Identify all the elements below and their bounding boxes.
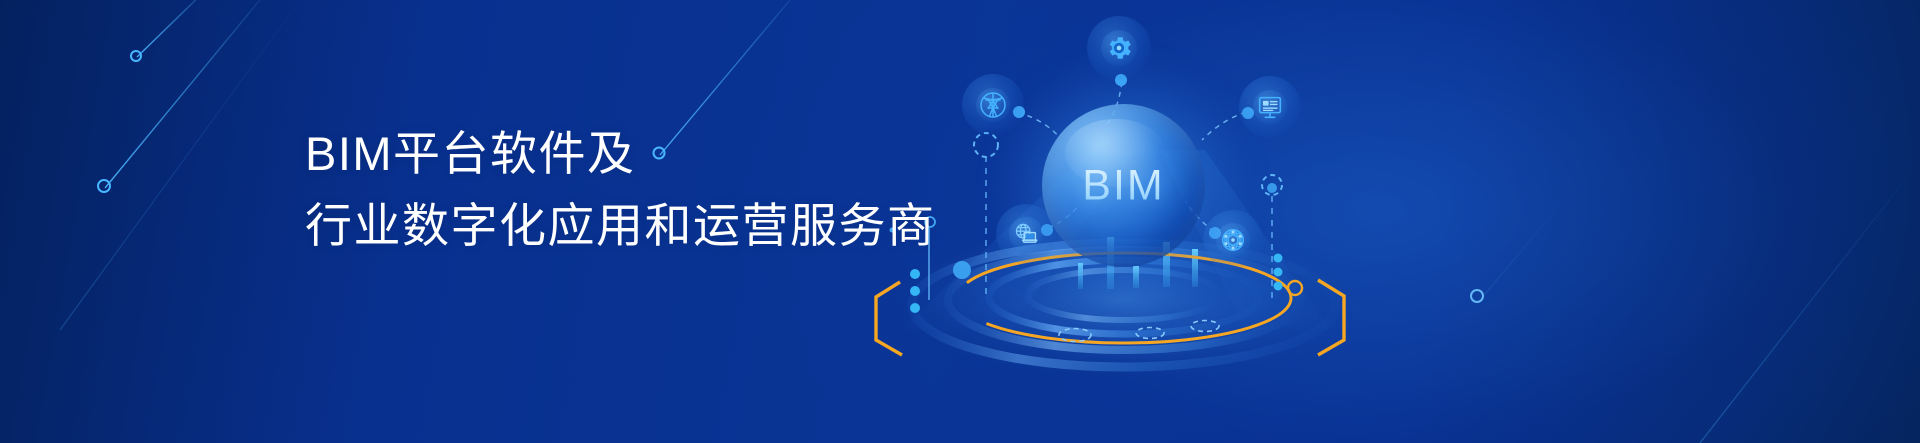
small-dot	[910, 303, 920, 313]
data-bar	[1192, 249, 1198, 287]
data-bar	[1078, 263, 1083, 289]
data-bar	[1133, 266, 1139, 288]
connector-node	[1267, 183, 1277, 193]
small-dot	[910, 269, 920, 279]
bim-label: BIM	[1042, 161, 1205, 210]
bim-sphere: BIM	[1042, 104, 1205, 267]
monitor-icon-bubble	[1239, 76, 1301, 138]
power-tower-icon-bubble	[962, 74, 1024, 136]
gear-icon	[1104, 33, 1134, 63]
small-dot	[1274, 254, 1283, 263]
orbit-connector	[1018, 112, 1060, 138]
small-dot	[1274, 282, 1283, 291]
cloud-laptop-icon	[1011, 219, 1041, 249]
stem-node-circle	[974, 133, 998, 157]
gear-icon-bubble	[1087, 16, 1151, 80]
power-tower-icon	[977, 89, 1009, 121]
orbit-connector	[1202, 112, 1246, 140]
small-dot	[910, 286, 920, 296]
monitor-icon	[1255, 92, 1285, 122]
connector-node	[953, 261, 971, 279]
network-icon	[1218, 225, 1248, 255]
small-dot	[1274, 268, 1283, 277]
illustration-platform	[0, 0, 1920, 443]
hero-banner: BIM平台软件及 行业数字化应用和运营服务商	[0, 0, 1920, 443]
cloud-laptop-icon-bubble	[996, 204, 1056, 264]
network-icon-bubble	[1203, 210, 1263, 270]
